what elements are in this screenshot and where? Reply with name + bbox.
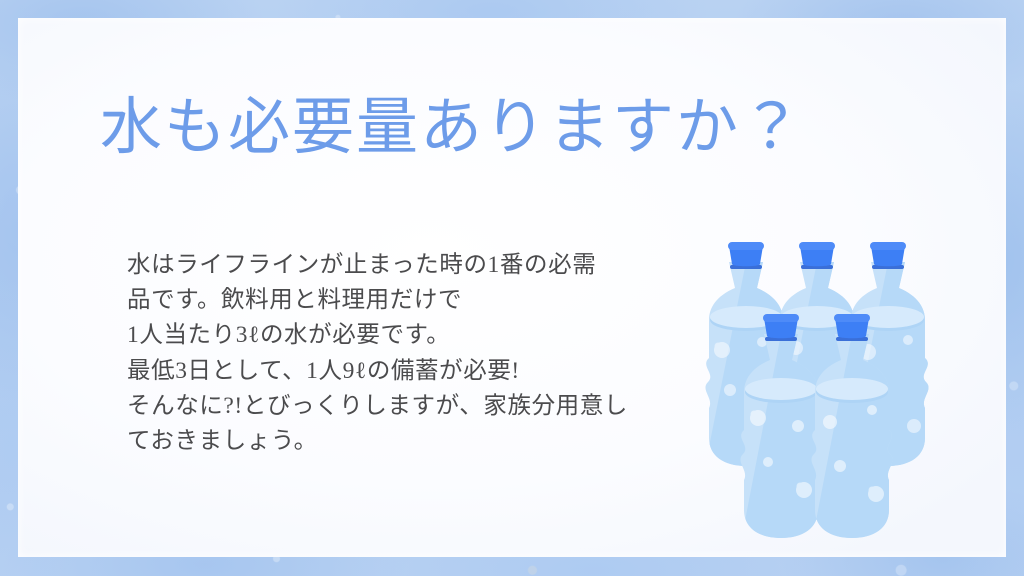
body-line-2: 品です。飲料用と料理用だけで: [127, 283, 687, 318]
body-paragraph: 水はライフラインが止まった時の1番の必需 品です。飲料用と料理用だけで 1人当た…: [127, 248, 687, 459]
body-line-6: ておきましょう。: [127, 424, 687, 459]
body-line-4: 最低3日として、1人9ℓの備蓄が必要!: [127, 354, 687, 389]
body-line-1: 水はライフラインが止まった時の1番の必需: [127, 248, 687, 283]
page-title: 水も必要量ありますか？: [100, 96, 900, 161]
water-bottles-illustration: [700, 222, 950, 552]
body-line-5: そんなに?!とびっくりしますが、家族分用意し: [127, 389, 687, 424]
slide-canvas: 水も必要量ありますか？ 水はライフラインが止まった時の1番の必需 品です。飲料用…: [0, 0, 1024, 576]
body-line-3: 1人当たり3ℓの水が必要です。: [127, 318, 687, 353]
